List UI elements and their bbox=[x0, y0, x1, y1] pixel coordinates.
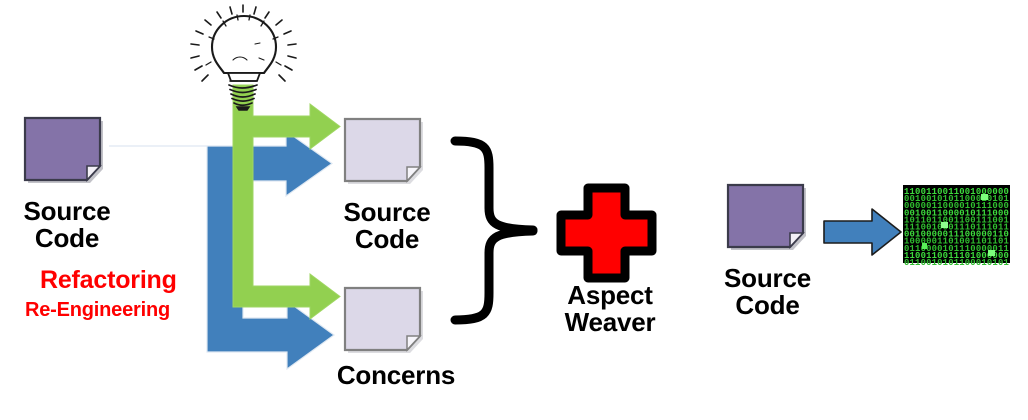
label-source-code-output: Source Code bbox=[332, 199, 442, 254]
diagram-canvas: 1100110011001000000001001010110001010100… bbox=[0, 0, 1028, 420]
label-source-code-input: Source Code bbox=[12, 198, 122, 253]
label-woven-source-code: Source Code bbox=[710, 265, 825, 320]
diagram-label-layer: Source Code Refactoring Re-Engineering S… bbox=[0, 0, 1028, 420]
annotation-refactoring: Refactoring bbox=[40, 267, 177, 293]
label-aspect-weaver: Aspect Weaver bbox=[550, 282, 670, 337]
annotation-re-engineering: Re-Engineering bbox=[25, 300, 170, 321]
label-concerns: Concerns bbox=[326, 362, 466, 389]
